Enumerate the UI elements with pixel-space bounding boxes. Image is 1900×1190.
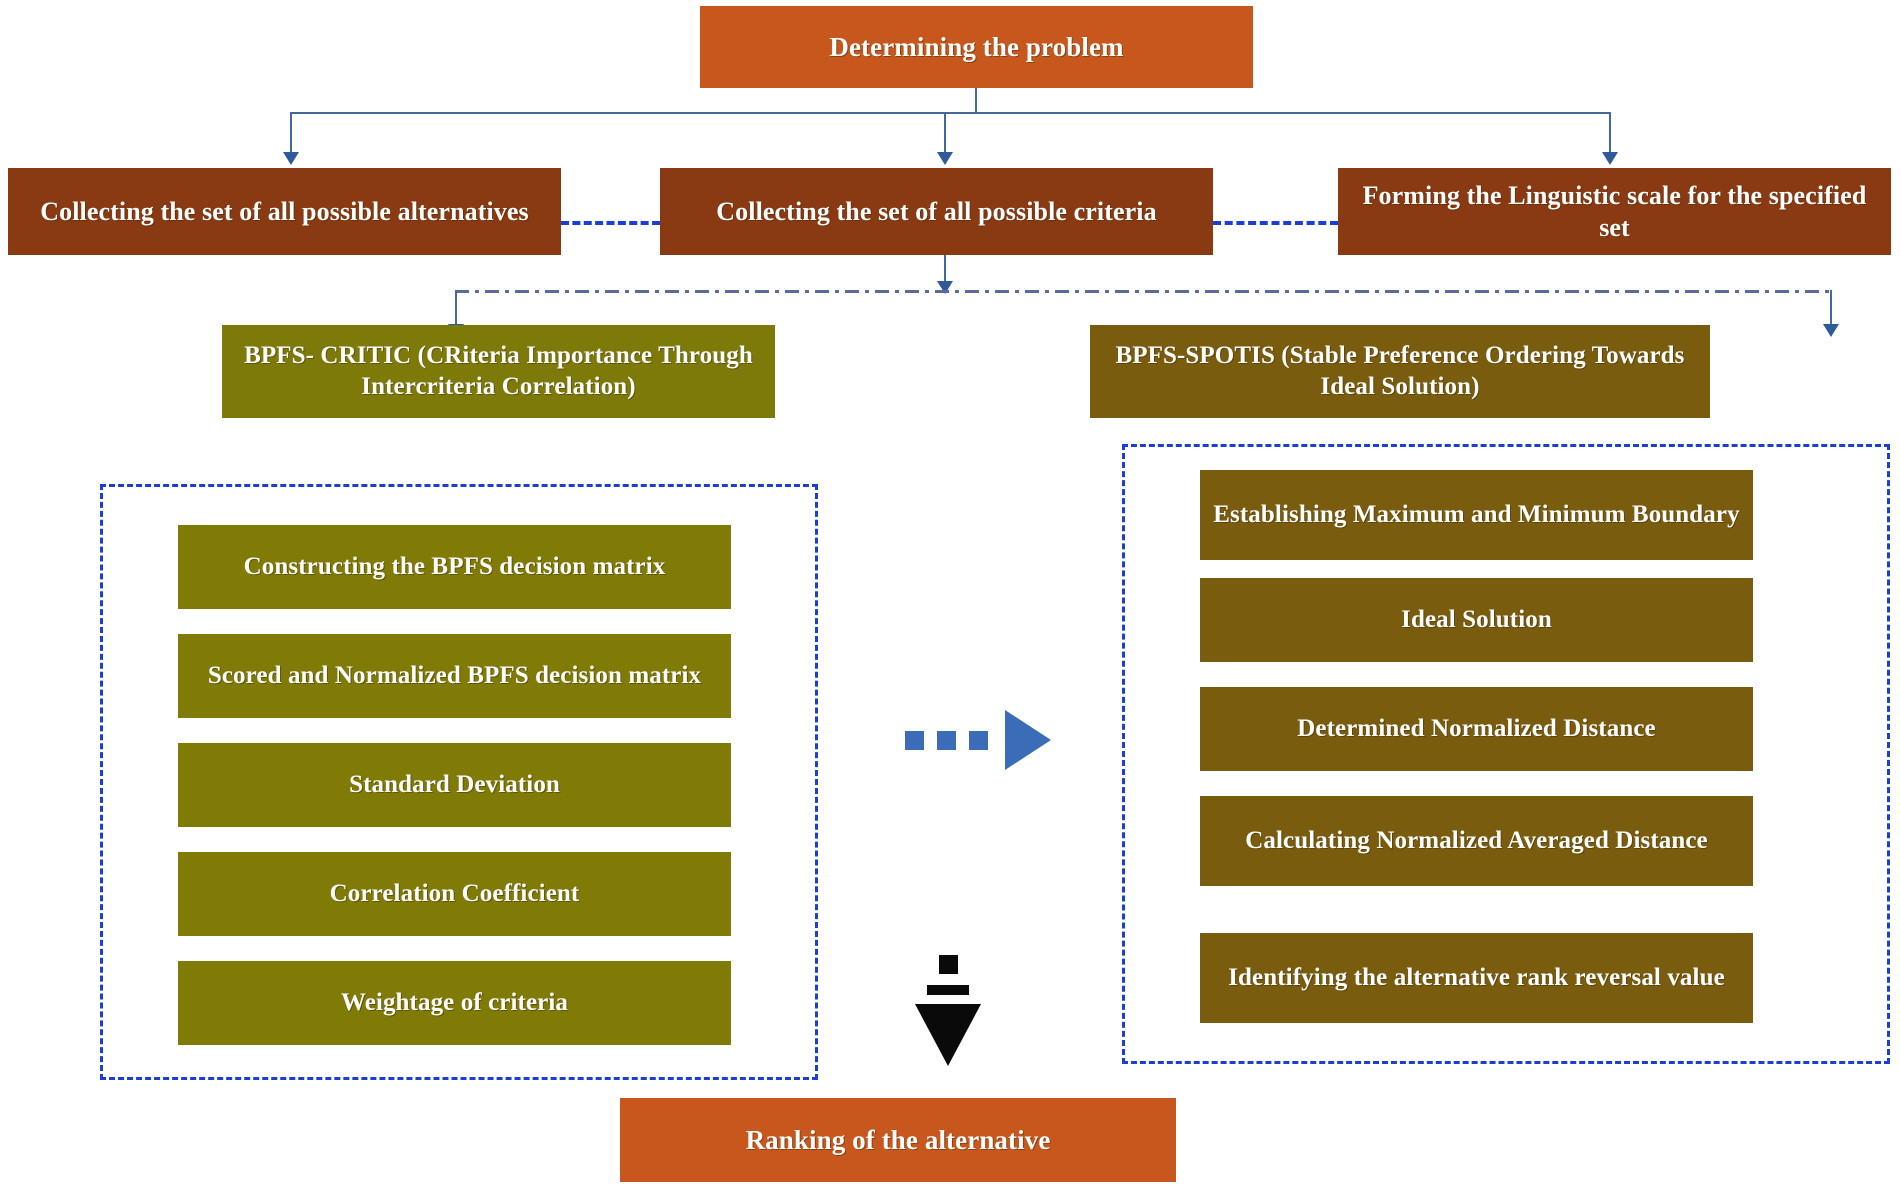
node-spotis-step-1[interactable]: Establishing Maximum and Minimum Boundar… (1200, 470, 1753, 560)
dotted-arrow-segment (905, 731, 924, 750)
dotted-arrow-segment (937, 731, 956, 750)
connector-start-bus (290, 112, 1610, 114)
node-critic-step-4[interactable]: Correlation Coefficient (178, 852, 731, 936)
arrowhead-to-alternatives (283, 152, 299, 165)
dotted-arrow-segment (939, 955, 958, 974)
connector-start-branch-right (1609, 112, 1611, 156)
arrowhead-to-linguistic-scale (1602, 152, 1618, 165)
arrow-critic-to-ranking-icon (915, 955, 981, 1066)
connector-alternatives-criteria-dashed (561, 221, 660, 225)
connector-start-branch-middle (944, 112, 946, 156)
connector-criteria-linguistic-dashed (1213, 221, 1338, 225)
node-critic-step-2[interactable]: Scored and Normalized BPFS decision matr… (178, 634, 731, 718)
connector-start-stem (975, 88, 977, 112)
dotted-arrow-head-down-icon (915, 1004, 981, 1066)
flowchart-canvas: Determining the problem Collecting the s… (0, 0, 1900, 1190)
connector-start-branch-left (290, 112, 292, 156)
arrow-critic-to-spotis-icon (905, 710, 1051, 770)
node-collecting-alternatives[interactable]: Collecting the set of all possible alter… (8, 168, 561, 255)
connector-bus-branch-spotis (1830, 290, 1832, 328)
dotted-arrow-stem (927, 985, 969, 995)
node-forming-linguistic-scale[interactable]: Forming the Linguistic scale for the spe… (1338, 168, 1891, 255)
node-critic-step-3[interactable]: Standard Deviation (178, 743, 731, 827)
node-spotis-step-4[interactable]: Calculating Normalized Averaged Distance (1200, 796, 1753, 886)
arrowhead-to-bpfs-spotis (1823, 324, 1839, 337)
arrowhead-to-criteria (937, 152, 953, 165)
node-critic-step-1[interactable]: Constructing the BPFS decision matrix (178, 525, 731, 609)
node-collecting-criteria[interactable]: Collecting the set of all possible crite… (660, 168, 1213, 255)
connector-bus-branch-critic (455, 290, 457, 328)
node-spotis-step-5[interactable]: Identifying the alternative rank reversa… (1200, 933, 1753, 1023)
node-critic-step-5[interactable]: Weightage of criteria (178, 961, 731, 1045)
dotted-arrow-segment (969, 731, 988, 750)
node-ranking-of-the-alternative[interactable]: Ranking of the alternative (620, 1098, 1176, 1182)
node-spotis-step-2[interactable]: Ideal Solution (1200, 578, 1753, 662)
node-bpfs-critic-header[interactable]: BPFS- CRITIC (CRiteria Importance Throug… (222, 325, 775, 418)
node-bpfs-spotis-header[interactable]: BPFS-SPOTIS (Stable Preference Ordering … (1090, 325, 1710, 418)
node-spotis-step-3[interactable]: Determined Normalized Distance (1200, 687, 1753, 771)
connector-methods-bus-dashdot (455, 290, 1832, 293)
node-determining-the-problem[interactable]: Determining the problem (700, 6, 1253, 88)
dotted-arrow-head-right-icon (1005, 710, 1051, 770)
